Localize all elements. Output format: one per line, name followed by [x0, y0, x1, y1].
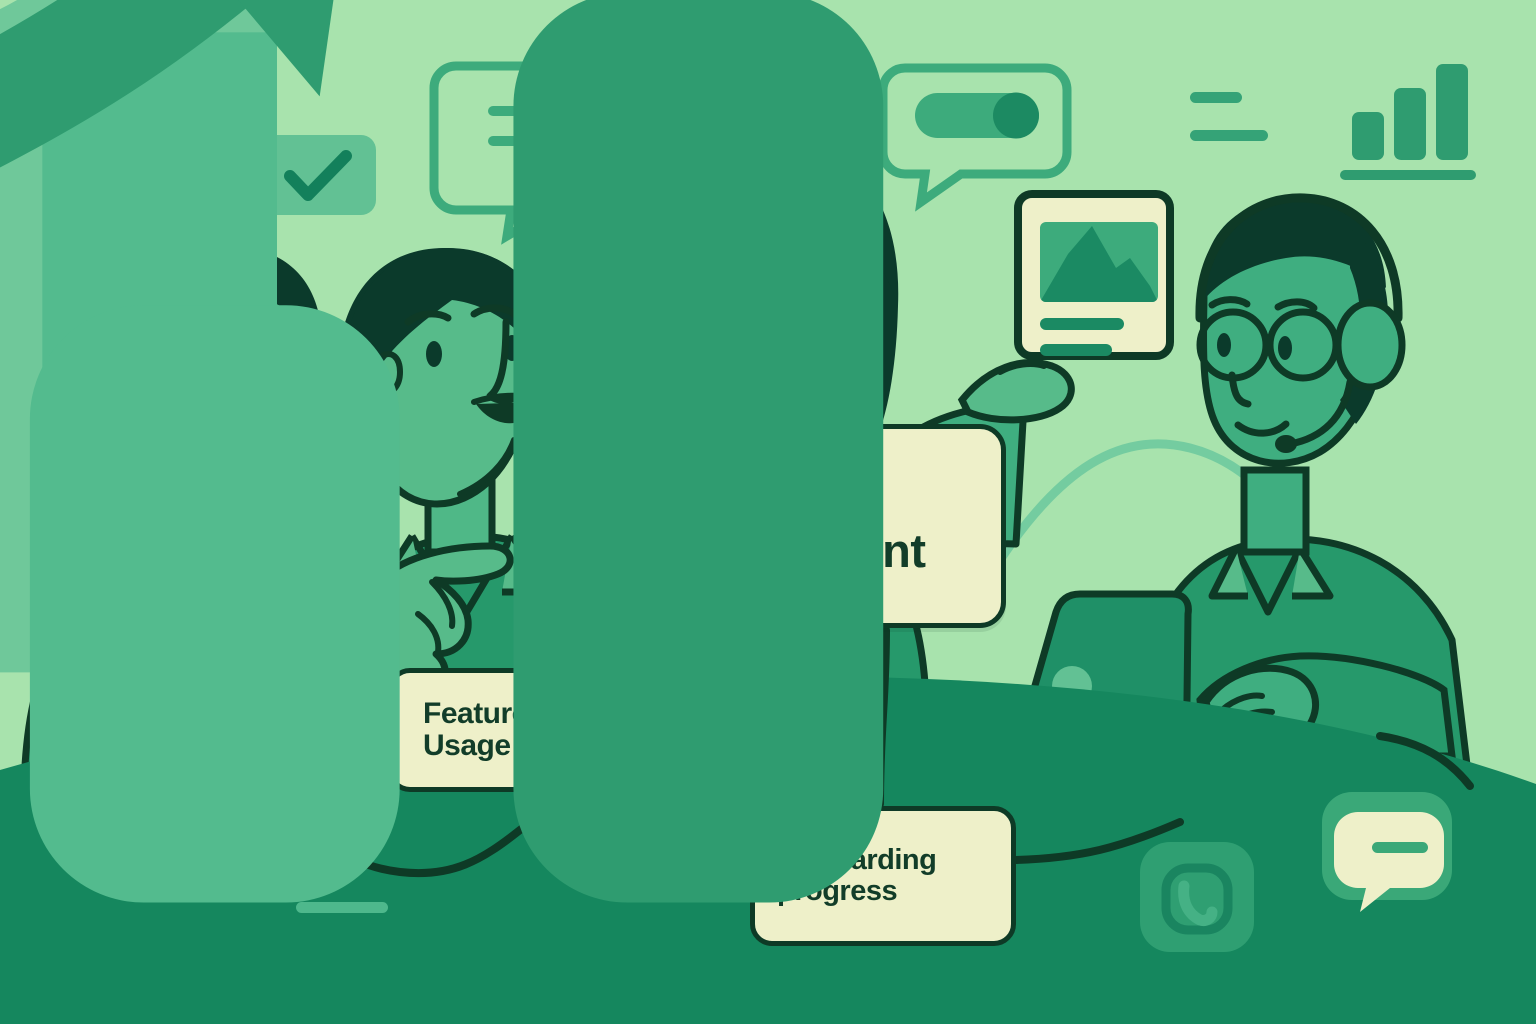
- decor-line-c: [1190, 92, 1242, 103]
- phone-tile-icon[interactable]: [1140, 842, 1254, 952]
- check-tile-bottom-icon: [172, 800, 264, 878]
- decor-line-f: [296, 902, 388, 913]
- scene-artwork: [0, 0, 1536, 1024]
- toggle-switch-icon[interactable]: [915, 93, 1039, 139]
- report-card-icon: [1018, 194, 1170, 356]
- decor-line-d: [1190, 130, 1268, 141]
- message-tile-icon[interactable]: [1322, 792, 1452, 912]
- illustration-canvas: Product Engagement Feature Usage Onboard…: [0, 0, 1536, 1024]
- check-tile-icon: [262, 135, 376, 215]
- decor-line-e: [296, 872, 338, 883]
